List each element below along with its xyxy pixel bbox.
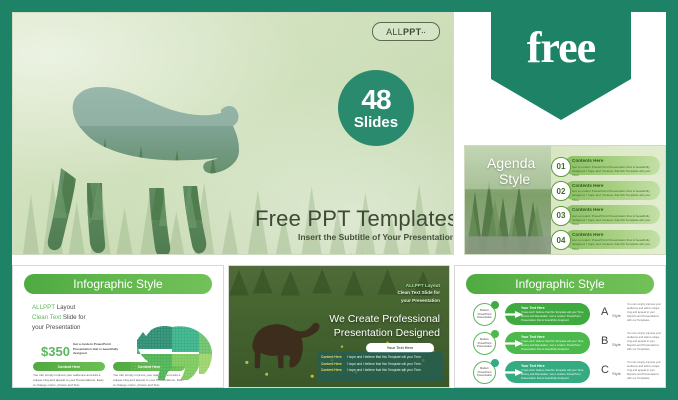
text-line1-accent: ALLPPT <box>32 304 55 311</box>
row-box-desc: I hope and I believe that this Template … <box>521 311 584 323</box>
infographic-row[interactable]: Modern PowerPoint Presentation Your Text… <box>455 302 665 327</box>
caption-line2: Clean Text Slide for <box>397 290 440 295</box>
row-style-label: Style <box>612 371 621 376</box>
text-line2-rest: Slide for <box>61 314 85 321</box>
photo-slide-headline: We Create Professional Presentation Desi… <box>290 313 440 341</box>
content-row[interactable]: Content Here I hope and I believe that t… <box>321 362 439 366</box>
row-box-title: Your Text Here <box>521 335 584 339</box>
agenda-item-title: Contents Here <box>572 207 603 212</box>
source-url-link[interactable]: http://www.free-powerpoint-templates-des… <box>341 253 433 255</box>
infographic-row[interactable]: Modern PowerPoint Presentation Your Text… <box>455 360 665 385</box>
content-row-key: Content Here <box>321 368 347 372</box>
agenda-item[interactable]: 04 Contents Here Get a modern PowerPoint… <box>551 230 660 250</box>
agenda-item-desc: Get a modern PowerPoint Presentation tha… <box>572 189 656 202</box>
caption-line3: your Presentation <box>401 298 440 303</box>
agenda-item-desc: Get a modern PowerPoint Presentation tha… <box>572 238 656 251</box>
slide-count-label: Slides <box>354 115 398 130</box>
slide-count-badge: 48 Slides <box>338 70 414 146</box>
caption-line1: ALLPPT Layout <box>406 283 440 288</box>
logo-dots: .. <box>421 28 426 35</box>
page-title: Free PPT Templates <box>255 206 454 232</box>
text-line2-accent: Clean Text <box>32 314 61 321</box>
agenda-item-title: Contents Here <box>572 183 603 188</box>
row-box-desc: I hope and I believe that this Template … <box>521 340 584 352</box>
photo-slide-caption: ALLPPT Layout Clean Text Slide for your … <box>356 282 440 304</box>
slide-count-number: 48 <box>361 86 390 114</box>
row-paragraph: You can simply impress your audience and… <box>627 361 663 381</box>
agenda-title: Agenda Style <box>487 155 535 187</box>
page-subtitle: Insert the Subtitle of Your Presentation <box>298 232 454 242</box>
agenda-item-title: Contents Here <box>572 158 603 163</box>
allppt-logo: ALLPPT.. <box>372 22 440 41</box>
logo-bold: PPT <box>403 27 421 37</box>
agenda-number: 04 <box>551 230 571 250</box>
content-row-value: I hope and I believe that this Template … <box>347 368 422 372</box>
headline-line1: We Create Professional <box>329 313 440 325</box>
row-box-title: Your Text Here <box>521 306 584 310</box>
agenda-item[interactable]: 02 Contents Here Get a modern PowerPoint… <box>551 181 660 201</box>
infographic-right-heading: Infographic Style <box>466 274 654 294</box>
row-box-desc: I hope and I believe that this Template … <box>521 369 584 381</box>
agenda-number: 01 <box>551 157 571 177</box>
content-row-key: Content Here <box>321 355 347 359</box>
bear-silhouette-icon <box>25 68 265 255</box>
title-slide[interactable]: ALLPPT.. 48 Slides Free PPT Templates In… <box>12 12 454 255</box>
agenda-list: 01 Contents Here Get a modern PowerPoint… <box>551 156 660 254</box>
content-row[interactable]: Content Here I hope and I believe that t… <box>321 368 439 372</box>
arrow-right-icon <box>501 369 523 376</box>
text-line1-rest: Layout <box>55 304 75 311</box>
row-style-label: Style <box>612 313 621 318</box>
arrow-right-icon <box>501 340 523 347</box>
content-card-body: You can simply impress your audience and… <box>33 373 105 387</box>
row-dot-icon <box>491 330 499 338</box>
row-letter: C <box>601 364 609 376</box>
photo-slide-content-panel: Content Here I hope and I believe that t… <box>317 352 443 382</box>
free-ribbon-badge: free <box>491 12 631 120</box>
content-row-value: I hope and I believe that this Template … <box>347 355 422 359</box>
row-letter: A <box>601 306 608 318</box>
row-style-label: Style <box>612 342 621 347</box>
photo-slide[interactable]: ALLPPT Layout Clean Text Slide for your … <box>228 265 450 388</box>
content-row-key: Content Here <box>321 362 347 366</box>
infographic-left-text: ALLPPT Layout Clean Text Slide for your … <box>32 303 86 334</box>
preview-inner: ALLPPT.. 48 Slides Free PPT Templates In… <box>12 12 666 388</box>
infographic-row[interactable]: Modern PowerPoint Presentation Your Text… <box>455 331 665 356</box>
price-note: Get a modern PowerPoint Presentation tha… <box>73 342 129 356</box>
row-paragraph: You can simply impress your audience and… <box>627 332 663 352</box>
agenda-title-line2: Style <box>499 171 535 187</box>
agenda-item-desc: Get a modern PowerPoint Presentation tha… <box>572 214 656 227</box>
content-row[interactable]: Content Here I hope and I believe that t… <box>321 355 439 359</box>
logo-prefix: ALL <box>386 27 403 37</box>
content-card[interactable]: Content Here You can simply impress your… <box>33 362 105 387</box>
agenda-item[interactable]: 01 Contents Here Get a modern PowerPoint… <box>551 156 660 176</box>
content-row-value: I hope and I believe that this Template … <box>347 362 422 366</box>
arrow-right-icon <box>501 311 523 318</box>
row-dot-icon <box>491 301 499 309</box>
free-ribbon-label: free <box>527 26 595 70</box>
agenda-item[interactable]: 03 Contents Here Get a modern PowerPoint… <box>551 205 660 225</box>
preview-page: ALLPPT.. 48 Slides Free PPT Templates In… <box>0 0 678 400</box>
agenda-title-line1: Agenda <box>487 155 535 171</box>
content-card-label: Content Here <box>33 362 105 371</box>
row-dot-icon <box>491 359 499 367</box>
agenda-item-desc: Get a modern PowerPoint Presentation tha… <box>572 165 656 178</box>
row-letter: B <box>601 335 608 347</box>
row-paragraph: You can simply impress your audience and… <box>627 303 663 323</box>
bear-puzzle-icon <box>131 314 219 384</box>
infographic-left-slide[interactable]: Infographic Style ALLPPT Layout Clean Te… <box>12 265 224 388</box>
infographic-right-slide[interactable]: Infographic Style Modern PowerPoint Pres… <box>454 265 666 388</box>
headline-line2: Presentation Designed <box>334 327 440 339</box>
infographic-left-heading: Infographic Style <box>24 274 212 294</box>
agenda-slide[interactable]: Agenda Style 01 Contents Here Get a mode… <box>464 145 666 255</box>
agenda-item-title: Contents Here <box>572 232 603 237</box>
infographic-right-rows: Modern PowerPoint Presentation Your Text… <box>455 302 665 388</box>
agenda-number: 03 <box>551 206 571 226</box>
agenda-number: 02 <box>551 181 571 201</box>
price-value: $350 <box>41 344 70 359</box>
text-line3: your Presentation <box>32 324 81 331</box>
row-box-title: Your Text Here <box>521 364 584 368</box>
